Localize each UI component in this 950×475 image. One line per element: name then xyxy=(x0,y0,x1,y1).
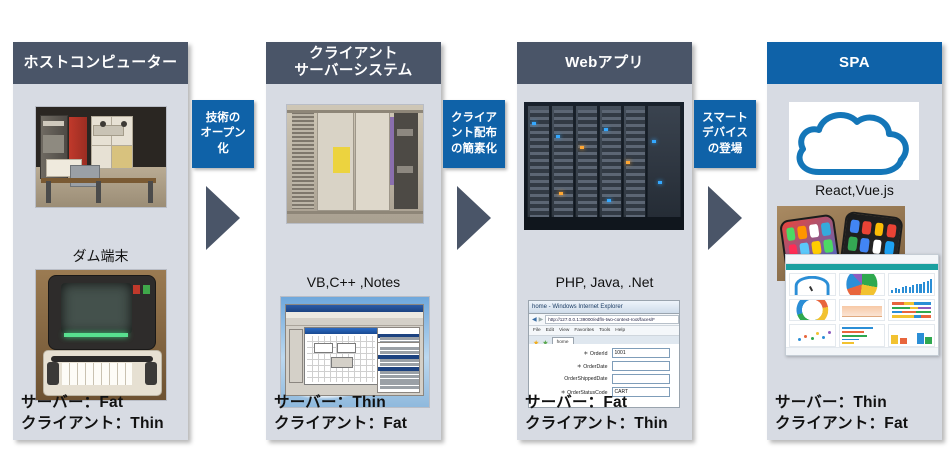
panel-body-web-app: PHP, Java, .Net home - Windows Internet … xyxy=(517,84,692,440)
panel-client-server-system[interactable]: クライアント サーバーシステム xyxy=(266,42,441,440)
form-row: ＊ OrderDate xyxy=(529,361,679,371)
ie-url-field[interactable]: http://127.0.0.1:39000/edfln-two-context… xyxy=(545,315,679,324)
server-line: サーバー：Fat xyxy=(21,393,164,413)
back-icon[interactable]: ◀ xyxy=(532,316,537,323)
donut-chart xyxy=(789,299,836,322)
connector-1-line-2: オープン xyxy=(200,126,245,142)
connector-1-arrow-icon xyxy=(206,186,240,250)
client-line: クライアント：Fat xyxy=(775,414,908,434)
mainframe-photo xyxy=(35,106,167,208)
connector-2: クライア ント配布 の簡素化 xyxy=(443,100,505,330)
panel-spa[interactable]: SPA React,Vue.js xyxy=(767,42,942,440)
field-label: ＊ OrderId xyxy=(539,350,608,357)
connector-3-label: スマート デバイス の登場 xyxy=(694,100,756,168)
web-app-summary: サーバー：Fat クライアント：Thin xyxy=(525,393,668,434)
panel-header-line-1: クライアント xyxy=(294,46,412,63)
panel-body-spa: React,Vue.js xyxy=(767,84,942,440)
dashboard-nav-bar xyxy=(786,264,938,270)
menu-help[interactable]: Help xyxy=(615,328,625,333)
spa-summary: サーバー：Thin クライアント：Fat xyxy=(775,393,908,434)
grouped-bar-chart xyxy=(888,324,935,347)
connector-2-line-1: クライア xyxy=(451,111,497,127)
dashboard-footer xyxy=(786,347,938,355)
dashboard-chart-grid xyxy=(789,273,935,347)
form-row: OrderShippedDate xyxy=(529,374,679,384)
ie-title-text: home - Windows Internet Explorer xyxy=(532,304,623,310)
client-line: クライアント：Thin xyxy=(21,414,164,434)
bi-dashboard-screenshot xyxy=(785,254,939,356)
server-line: サーバー：Thin xyxy=(775,393,908,413)
dashboard-title-bar xyxy=(786,255,938,264)
panel-header-client-server-system: クライアント サーバーシステム xyxy=(266,42,441,84)
server-rack-photo xyxy=(286,104,424,224)
connector-2-line-2: ント配布 xyxy=(451,126,497,142)
menu-tools[interactable]: Tools xyxy=(599,328,610,333)
diagram-canvas: ホストコンピューター xyxy=(0,0,950,475)
panel-header-host-computer: ホストコンピューター xyxy=(13,42,188,84)
client-server-summary: サーバー：Thin クライアント：Fat xyxy=(274,393,407,434)
pie-chart xyxy=(839,273,886,296)
cloud-icon xyxy=(789,102,919,180)
orderdate-input[interactable] xyxy=(612,361,670,371)
forward-icon[interactable]: ▶ xyxy=(539,316,544,323)
panel-header-spa: SPA xyxy=(767,42,942,84)
menu-edit[interactable]: Edit xyxy=(546,328,554,333)
panel-body-host-computer: ダム端末 xyxy=(13,84,188,440)
connector-1-line-3: 化 xyxy=(217,142,229,158)
ie-address-bar[interactable]: ◀ ▶ http://127.0.0.1:39000/edfln-two-con… xyxy=(529,314,679,326)
connector-2-label: クライア ント配布 の簡素化 xyxy=(443,100,505,168)
connector-1-label: 技術の オープン 化 xyxy=(192,100,254,168)
panel-web-app[interactable]: Webアプリ xyxy=(517,42,692,440)
connector-3-line-3: の登場 xyxy=(708,142,743,158)
connector-2-line-3: の簡素化 xyxy=(451,142,497,158)
menu-favorites[interactable]: Favorites xyxy=(574,328,594,333)
vb-ide-screenshot xyxy=(280,296,430,408)
web-app-tech-label: PHP, Java, .Net xyxy=(517,274,692,290)
client-server-tech-label: VB,C++ ,Notes xyxy=(266,274,441,290)
area-chart xyxy=(839,299,886,322)
connector-3-line-1: スマート xyxy=(702,111,748,127)
client-line: クライアント：Thin xyxy=(525,414,668,434)
field-label: OrderShippedDate xyxy=(539,376,608,382)
panel-header-line-2: サーバーシステム xyxy=(294,63,412,80)
menu-file[interactable]: File xyxy=(533,328,541,333)
scatter-chart xyxy=(789,324,836,347)
column-chart xyxy=(888,273,935,296)
field-label: ＊ OrderDate xyxy=(539,363,608,370)
ie-menu-bar[interactable]: File Edit View Favorites Tools Help xyxy=(529,326,679,336)
internet-explorer-screenshot: home - Windows Internet Explorer ◀ ▶ htt… xyxy=(528,300,680,408)
gauge-chart xyxy=(789,273,836,296)
client-line: クライアント：Fat xyxy=(274,414,407,434)
spa-tech-label: React,Vue.js xyxy=(767,182,942,198)
connector-3: スマート デバイス の登場 xyxy=(694,100,756,330)
datacenter-photo xyxy=(524,102,684,230)
menu-view[interactable]: View xyxy=(559,328,569,333)
connector-3-line-2: デバイス xyxy=(702,126,748,142)
stacked-bar-chart xyxy=(888,299,935,322)
panel-host-computer[interactable]: ホストコンピューター xyxy=(13,42,188,440)
server-line: サーバー：Fat xyxy=(525,393,668,413)
server-line: サーバー：Thin xyxy=(274,393,407,413)
ie-title-bar: home - Windows Internet Explorer xyxy=(529,301,679,314)
form-row: ＊ OrderId 1001 xyxy=(529,348,679,358)
connector-1: 技術の オープン 化 xyxy=(192,100,254,330)
connector-1-line-1: 技術の xyxy=(206,111,241,127)
panel-body-client-server-system: VB,C++ ,Notes xyxy=(266,84,441,440)
connector-2-arrow-icon xyxy=(457,186,491,250)
panel-header-web-app: Webアプリ xyxy=(517,42,692,84)
ordershippeddate-input[interactable] xyxy=(612,374,670,384)
cloud-shape-icon xyxy=(789,102,919,180)
bar-chart xyxy=(839,324,886,347)
orderid-input[interactable]: 1001 xyxy=(612,348,670,358)
dumb-terminal-caption: ダム端末 xyxy=(13,246,188,266)
dumb-terminal-photo xyxy=(35,269,167,401)
connector-3-arrow-icon xyxy=(708,186,742,250)
host-computer-summary: サーバー：Fat クライアント：Thin xyxy=(21,393,164,434)
